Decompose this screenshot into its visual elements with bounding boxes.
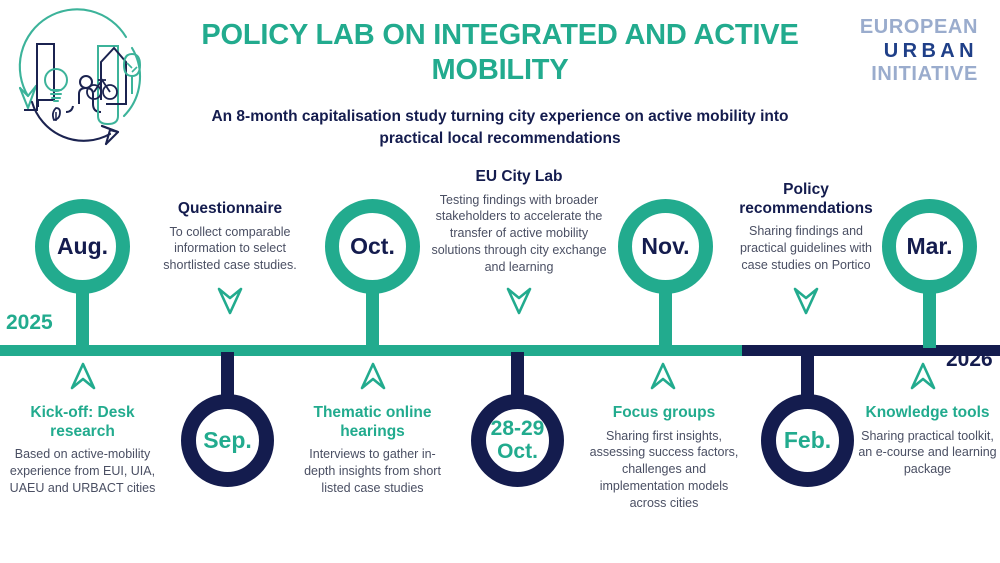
milestone-circle-28-29-oct[interactable]: 28-29 Oct.	[471, 394, 564, 487]
policy-lab-circular-city-icon	[6, 4, 158, 156]
page-subtitle: An 8-month capitalisation study turning …	[178, 106, 822, 150]
milestone-circle-aug[interactable]: Aug.	[35, 199, 130, 294]
milestone-circle-oct[interactable]: Oct.	[325, 199, 420, 294]
event-desc-thematic-hearings: Interviews to gather in-depth insights f…	[295, 446, 450, 496]
chevron-up-icon	[648, 358, 678, 394]
event-title-knowledge-tools: Knowledge tools	[855, 404, 1000, 423]
brand-line-urban: URBAN	[838, 40, 978, 64]
page-title: POLICY LAB ON INTEGRATED AND ACTIVE MOBI…	[160, 18, 840, 89]
event-title-thematic-hearings: Thematic online hearings	[295, 404, 450, 441]
year-label-start: 2025	[6, 311, 53, 335]
event-thematic-online-hearings: Thematic online hearings Interviews to g…	[295, 404, 450, 496]
event-eu-city-lab: EU City Lab Testing findings with broade…	[430, 168, 608, 275]
brand-line-initiative: INITIATIVE	[838, 63, 978, 87]
event-knowledge-tools: Knowledge tools Sharing practical toolki…	[855, 404, 1000, 478]
stem-nov	[659, 290, 672, 348]
policy-lab-timeline-infographic: POLICY LAB ON INTEGRATED AND ACTIVE MOBI…	[0, 0, 1000, 563]
event-desc-focus-groups: Sharing first insights, assessing succes…	[585, 428, 743, 512]
event-desc-kick-off: Based on active-mobility experience from…	[5, 446, 160, 496]
stem-aug	[76, 290, 89, 348]
event-focus-groups: Focus groups Sharing first insights, ass…	[585, 404, 743, 511]
stem-feb	[801, 352, 814, 400]
event-desc-knowledge-tools: Sharing practical toolkit, an e-course a…	[855, 428, 1000, 478]
chevron-down-icon	[504, 283, 534, 319]
stem-oct	[366, 290, 379, 348]
milestone-label-28-29-oct: 28-29 Oct.	[491, 418, 545, 463]
brand-line-european: EUROPEAN	[838, 16, 978, 40]
chevron-up-icon	[908, 358, 938, 394]
chevron-down-icon	[791, 283, 821, 319]
milestone-label-oct: Oct.	[350, 234, 395, 259]
european-urban-initiative-logo: EUROPEAN URBAN INITIATIVE	[838, 16, 978, 87]
milestone-label-line1: 28-29	[491, 417, 545, 440]
milestone-circle-mar[interactable]: Mar.	[882, 199, 977, 294]
milestone-label-feb: Feb.	[784, 428, 831, 453]
milestone-label-mar: Mar.	[906, 234, 952, 259]
chevron-down-icon	[215, 283, 245, 319]
event-title-questionnaire: Questionnaire	[155, 200, 305, 219]
milestone-label-line2: Oct.	[497, 440, 538, 463]
milestone-circle-feb[interactable]: Feb.	[761, 394, 854, 487]
event-title-eu-city-lab: EU City Lab	[430, 168, 608, 187]
year-label-end: 2026	[946, 348, 993, 372]
chevron-up-icon	[358, 358, 388, 394]
event-desc-eu-city-lab: Testing findings with broader stakeholde…	[430, 192, 608, 276]
event-desc-policy-recommendations: Sharing findings and practical guideline…	[733, 223, 879, 273]
milestone-label-nov: Nov.	[641, 234, 689, 259]
event-questionnaire: Questionnaire To collect comparable info…	[155, 200, 305, 274]
milestone-circle-nov[interactable]: Nov.	[618, 199, 713, 294]
event-desc-questionnaire: To collect comparable information to sel…	[155, 224, 305, 274]
stem-mar	[923, 290, 936, 348]
stem-28-29-oct	[511, 352, 524, 400]
event-title-focus-groups: Focus groups	[585, 404, 743, 423]
event-title-policy-recommendations: Policy recommendations	[733, 181, 879, 218]
milestone-label-sep: Sep.	[203, 428, 252, 453]
chevron-up-icon	[68, 358, 98, 394]
stem-sep	[221, 352, 234, 400]
milestone-circle-sep[interactable]: Sep.	[181, 394, 274, 487]
event-policy-recommendations: Policy recommendations Sharing findings …	[733, 181, 879, 273]
event-kick-off-desk-research: Kick-off: Desk research Based on active-…	[5, 404, 160, 496]
milestone-label-aug: Aug.	[57, 234, 108, 259]
event-title-kick-off: Kick-off: Desk research	[5, 404, 160, 441]
